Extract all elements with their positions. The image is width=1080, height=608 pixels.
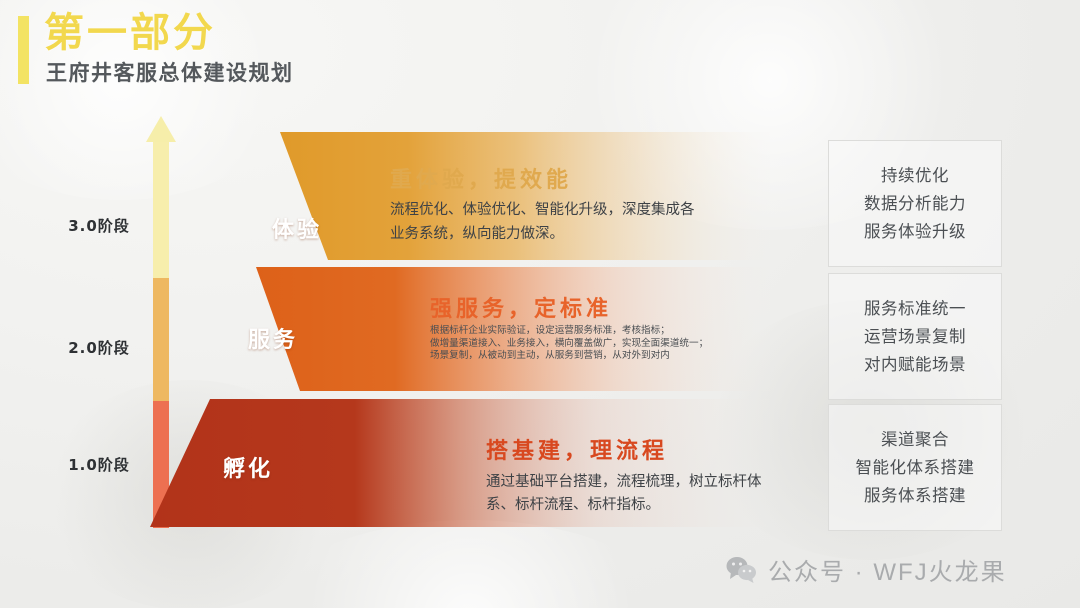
outcome-box-3[interactable]: 渠道聚合 智能化体系搭建 服务体系搭建 [828, 404, 1002, 531]
tier-heading-service: 强服务，定标准 [430, 291, 612, 323]
stage-label-1: 1.0阶段 [52, 454, 146, 475]
outcome-box-2[interactable]: 服务标准统一 运营场景复制 对内赋能场景 [828, 273, 1002, 400]
outcome-box-2-text: 服务标准统一 运营场景复制 对内赋能场景 [864, 295, 966, 379]
tier-body-experience: 流程优化、体验优化、智能化升级，深度集成各业务系统，纵向能力做深。 [390, 198, 700, 246]
header-accent-bar [18, 16, 29, 84]
tier-heading-incubation: 搭基建，理流程 [486, 433, 668, 465]
outcome-box-1[interactable]: 持续优化 数据分析能力 服务体验升级 [828, 140, 1002, 267]
outcome-box-1-text: 持续优化 数据分析能力 服务体验升级 [864, 162, 966, 246]
pyramid-diagram: 体验 重体验，提效能 流程优化、体验优化、智能化升级，深度集成各业务系统，纵向能… [150, 130, 770, 530]
tier-body-service: 根据标杆企业实际验证，设定运营服务标准，考核指标； 做增量渠道接入、业务接入，横… [430, 325, 775, 363]
pyramid-tier-experience[interactable]: 体验 重体验，提效能 流程优化、体验优化、智能化升级，深度集成各业务系统，纵向能… [150, 130, 770, 263]
slide-canvas: 第一部分 王府井客服总体建设规划 3.0阶段 2.0阶段 1.0阶段 [0, 0, 1080, 608]
pyramid-tier-service[interactable]: 服务 强服务，定标准 根据标杆企业实际验证，设定运营服务标准，考核指标； 做增量… [150, 267, 770, 395]
tier-word-incubation: 孵化 [223, 451, 273, 483]
footer-watermark: 公众号 · WFJ火龙果 [726, 552, 1007, 587]
tier-word-experience: 体验 [272, 212, 322, 244]
outcome-box-3-text: 渠道聚合 智能化体系搭建 服务体系搭建 [856, 426, 975, 510]
page-title: 第一部分 [44, 13, 216, 53]
pyramid-tier-incubation[interactable]: 孵化 搭基建，理流程 通过基础平台搭建，流程梳理，树立标杆体系、标杆流程、标杆指… [150, 399, 770, 530]
stage-label-2: 2.0阶段 [52, 337, 146, 358]
tier-body-incubation: 通过基础平台搭建，流程梳理，树立标杆体系、标杆流程、标杆指标。 [486, 471, 776, 517]
page-subtitle: 王府井客服总体建设规划 [46, 63, 294, 84]
tier-heading-experience: 重体验，提效能 [390, 162, 572, 194]
footer-label: 公众号 · WFJ火龙果 [768, 552, 1007, 587]
tier-word-service: 服务 [248, 322, 298, 354]
bg-texture-blotch [260, 520, 680, 608]
wechat-icon [726, 556, 757, 583]
stage-label-3: 3.0阶段 [52, 215, 146, 236]
